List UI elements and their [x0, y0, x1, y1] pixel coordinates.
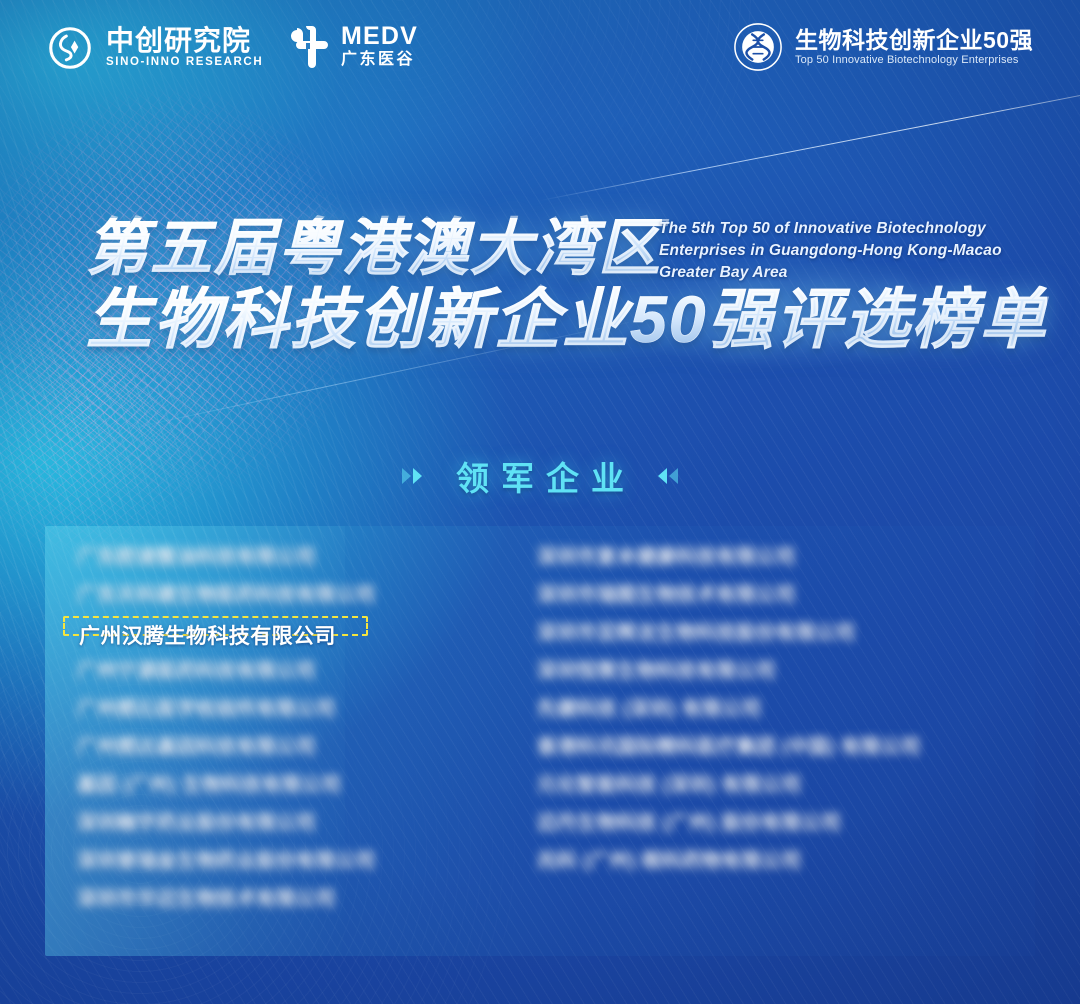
company-list-item[interactable]: 深圳市亚辉龙生物科技股份有限公司 — [537, 624, 1035, 644]
medv-logo-cn: 广东医谷 — [341, 52, 418, 68]
sino-logo-en: SINO-INNO RESEARCH — [106, 57, 263, 69]
dna-seal-icon — [733, 22, 783, 72]
top50-logo-cn: 生物科技创新企业50强 — [795, 29, 1033, 52]
title-line-2: 生物科技创新企业50强评选榜单 — [86, 286, 1047, 352]
section-heading: 领军企业 — [0, 452, 1080, 500]
company-list-item[interactable]: 深圳市瑞图生物技术有限公司 — [537, 586, 1035, 606]
title-line-1: 第五届粤港澳大湾区 — [86, 218, 662, 280]
company-list-item[interactable]: 基因 (广州) 生物科技有限公司 — [77, 776, 527, 796]
company-list-item[interactable]: 深圳市复本健康科技有限公司 — [537, 548, 1035, 568]
header-bar: 中创研究院 SINO-INNO RESEARCH MEDV 广东医谷 — [0, 0, 1080, 96]
company-list-item[interactable]: 深圳市华迈生物技术有限公司 — [77, 890, 527, 910]
company-list-item[interactable]: 元化智能科技 (深圳) 有限公司 — [537, 776, 1035, 796]
company-list-left-column: 广东腔速整油科技有限公司广东天科建生物医药科技有限公司广州汉腾生物科技有限公司广… — [45, 526, 527, 956]
company-list-item[interactable]: 深圳翰宇药业股份有限公司 — [77, 814, 527, 834]
medv-logo-en: MEDV — [341, 24, 418, 49]
company-list-item-highlighted[interactable]: 广州汉腾生物科技有限公司 — [63, 616, 368, 636]
section-heading-label: 领军企业 — [444, 452, 636, 500]
poster-root: 中创研究院 SINO-INNO RESEARCH MEDV 广东医谷 — [0, 0, 1080, 1004]
triangle-right-icon — [402, 468, 422, 484]
company-list-item[interactable]: 兆科 (广州) 眼科药物有限公司 — [537, 852, 1035, 872]
logo-top50-seal: 生物科技创新企业50强 Top 50 Innovative Biotechnol… — [733, 22, 1033, 72]
company-list-item[interactable]: 广东腔速整油科技有限公司 — [77, 548, 527, 568]
triangle-left-icon — [658, 468, 678, 484]
company-list-item[interactable]: 广州燃达基因科技有限公司 — [77, 738, 527, 758]
title-english-subtitle: The 5th Top 50 of Innovative Biotechnolo… — [659, 218, 1009, 284]
sino-inno-mark-icon — [48, 26, 92, 70]
company-list-panel: 广东腔速整油科技有限公司广东天科建生物医药科技有限公司广州汉腾生物科技有限公司广… — [45, 526, 1035, 956]
company-list-item[interactable]: 迈丹生物科技 (广州) 股份有限公司 — [537, 814, 1035, 834]
company-list-item[interactable]: 香港科讯国际精科医疗集团 (中国) 有限公司 — [537, 738, 1035, 758]
company-list-item[interactable]: 广州宁源医药科技有限公司 — [77, 662, 527, 682]
company-list-item[interactable]: 广东天科建生物医药科技有限公司 — [77, 586, 527, 606]
logo-medv: MEDV 广东医谷 — [288, 24, 418, 68]
company-list-item[interactable]: 深圳恒策生物科技有限公司 — [537, 662, 1035, 682]
medv-cross-icon — [288, 24, 330, 68]
company-list-right-column: 深圳市复本健康科技有限公司深圳市瑞图生物技术有限公司深圳市亚辉龙生物科技股份有限… — [527, 526, 1035, 956]
company-list-item[interactable]: 先健科技 (深圳) 有限公司 — [537, 700, 1035, 720]
top50-logo-en: Top 50 Innovative Biotechnology Enterpri… — [795, 55, 1033, 66]
company-list-item[interactable]: 广州燃石医学检验所有限公司 — [77, 700, 527, 720]
company-list-item[interactable]: 深圳普瑞金生物药业股份有限公司 — [77, 852, 527, 872]
sino-logo-cn: 中创研究院 — [106, 27, 263, 55]
logo-sino-inno-research: 中创研究院 SINO-INNO RESEARCH — [48, 26, 263, 70]
